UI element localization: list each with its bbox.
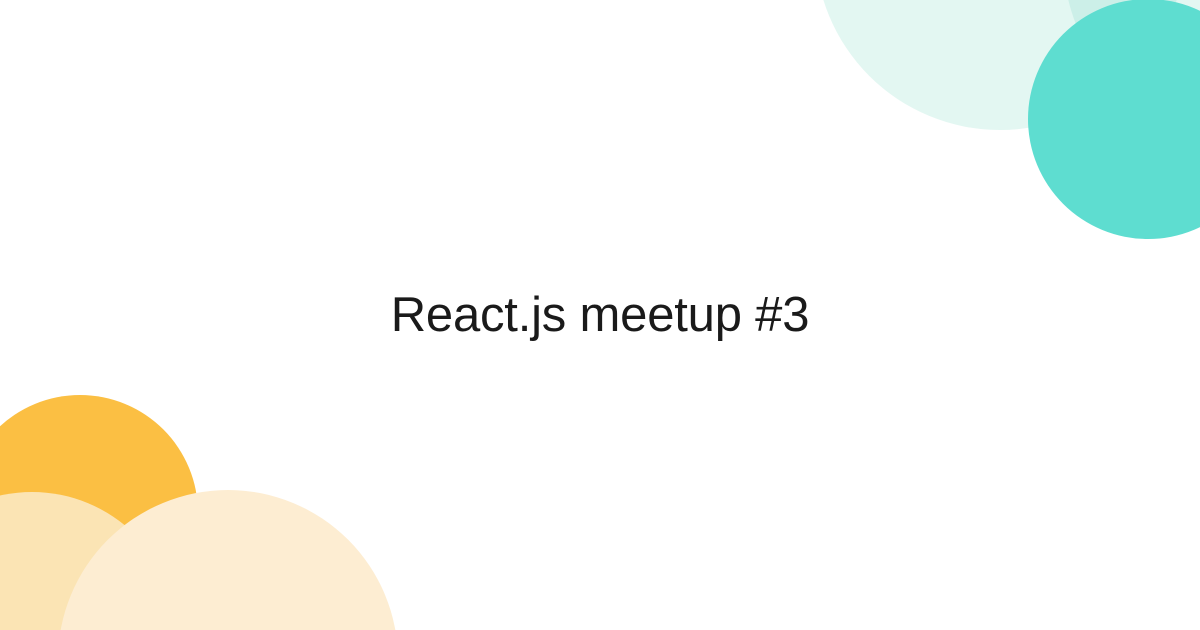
title-container: React.js meetup #3 bbox=[0, 0, 1200, 630]
page-title: React.js meetup #3 bbox=[391, 287, 810, 343]
event-banner-card: React.js meetup #3 bbox=[0, 0, 1200, 630]
